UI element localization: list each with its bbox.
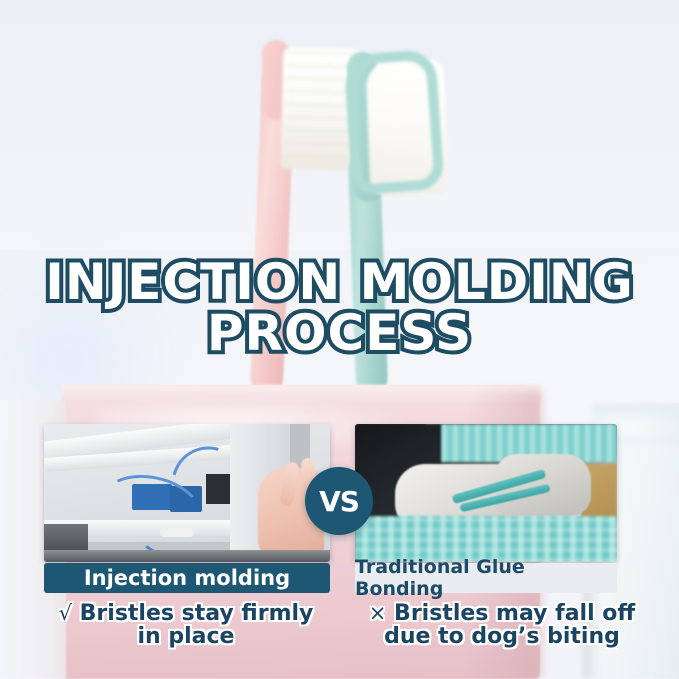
vs-badge: VS bbox=[305, 467, 373, 535]
checkmark-icon: √ bbox=[59, 601, 72, 625]
hose-connector bbox=[160, 528, 194, 537]
title-line-2: PROCESS bbox=[0, 309, 679, 357]
label-injection-molding-text: Injection molding bbox=[84, 566, 290, 590]
infographic-canvas: INJECTION MOLDING PROCESS V bbox=[0, 0, 679, 679]
photo-injection-molding bbox=[44, 424, 330, 562]
label-injection-molding: Injection molding bbox=[44, 563, 330, 593]
caption-left: √ Bristles stay firmly in place bbox=[36, 602, 336, 648]
caption-right: × Bristles may fall off due to dog’s bit… bbox=[352, 602, 652, 648]
vs-label: VS bbox=[319, 485, 359, 518]
label-traditional-glue-bonding: Traditional Glue Bonding bbox=[355, 563, 617, 593]
cross-icon: × bbox=[369, 601, 387, 625]
photo-glue-bonding bbox=[355, 424, 617, 562]
teal-toothbrush-rim bbox=[343, 49, 445, 195]
caption-right-line-1: Bristles may fall off bbox=[394, 601, 635, 626]
caption-left-line-1: Bristles stay firmly bbox=[80, 601, 314, 626]
caption-right-line-2: due to dog’s biting bbox=[384, 624, 620, 649]
label-traditional-glue-bonding-text: Traditional Glue Bonding bbox=[355, 556, 617, 600]
machine-floor-bar bbox=[44, 550, 330, 562]
caption-left-line-2: in place bbox=[138, 624, 235, 649]
page-title: INJECTION MOLDING PROCESS bbox=[0, 258, 679, 357]
title-line-1: INJECTION MOLDING bbox=[0, 258, 679, 306]
